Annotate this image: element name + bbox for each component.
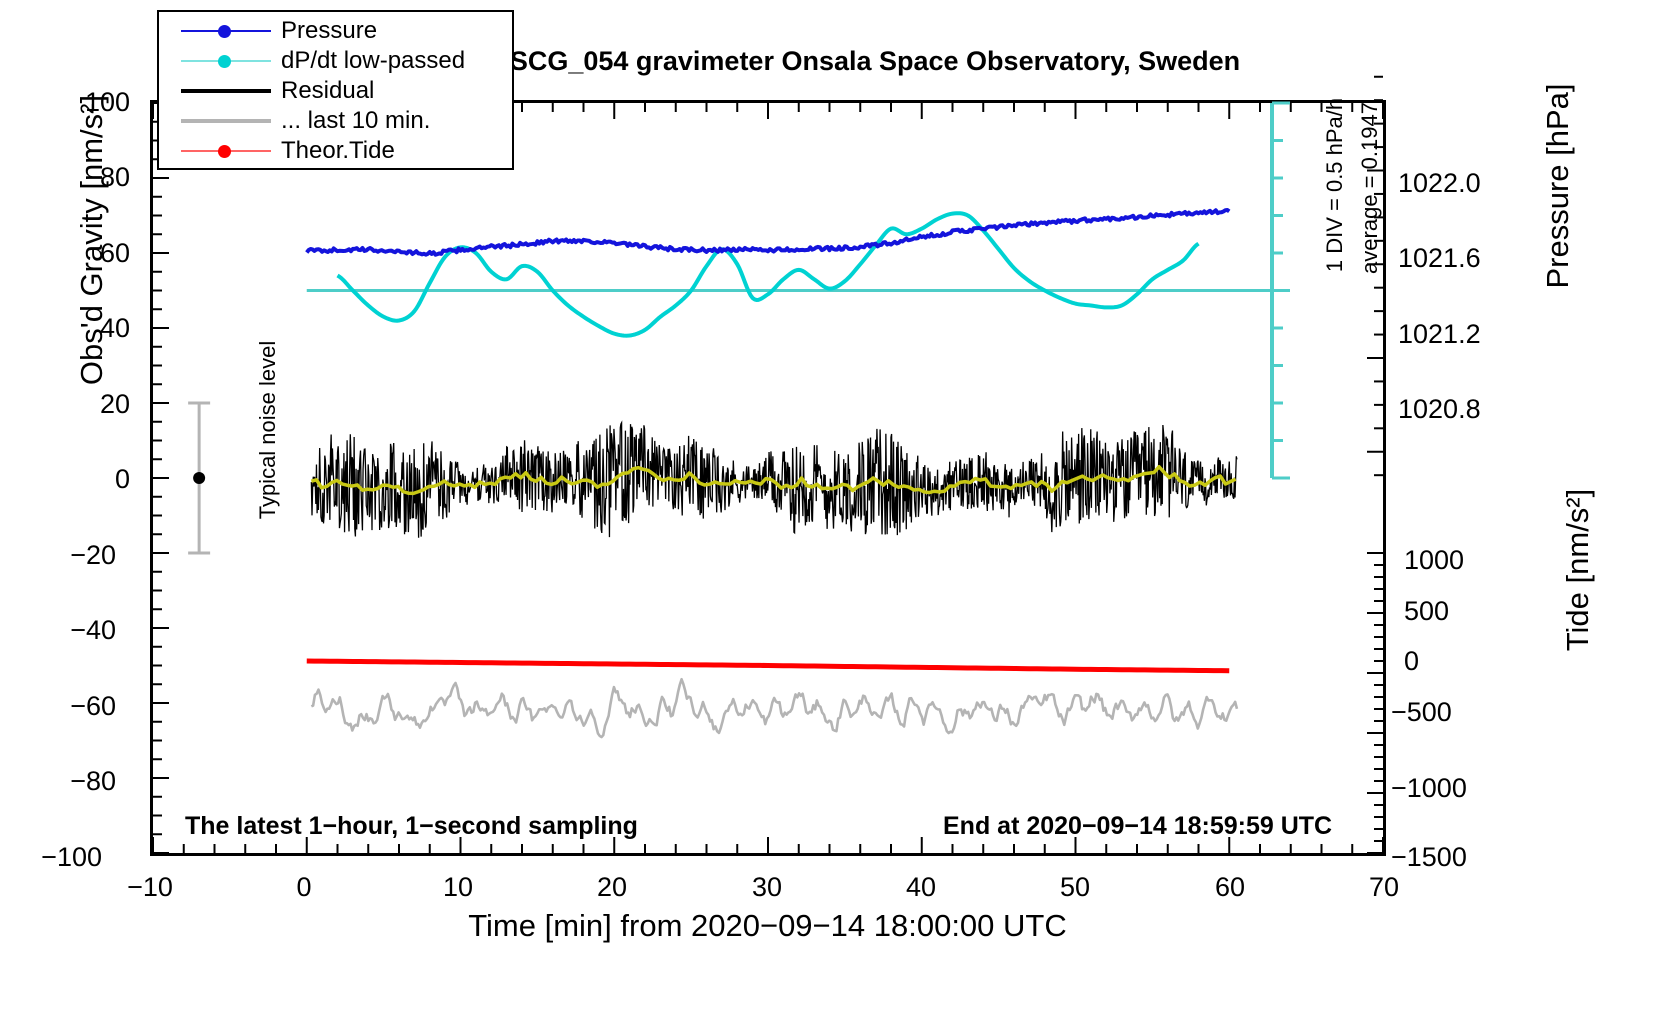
y-axis-right-ticks	[1367, 77, 1383, 853]
legend-item-pressure[interactable]: Pressure	[159, 16, 512, 46]
legend-item-tide[interactable]: Theor.Tide	[159, 136, 512, 166]
legend-label-dpdt: dP/dt low-passed	[281, 47, 465, 75]
series-pressure	[307, 210, 1230, 255]
legend-line-dot-red-icon	[181, 141, 271, 161]
legend-label-pressure: Pressure	[281, 17, 377, 45]
legend-box[interactable]: Pressure dP/dt low-passed Residual ... l…	[157, 10, 514, 170]
series-theoretical-tide	[307, 661, 1230, 671]
y-axis-left-ticks	[153, 103, 169, 853]
gravimeter-plot-page: SCG_054 gravimeter Onsala Space Observat…	[0, 0, 1660, 1020]
legend-label-last10: ... last 10 min.	[281, 107, 430, 135]
legend-item-residual[interactable]: Residual	[159, 76, 512, 106]
series-dpdt-lowpassed	[338, 213, 1199, 335]
legend-line-gray-icon	[181, 111, 271, 131]
legend-line-dot-blue-icon	[181, 21, 271, 41]
x-axis-ticks	[153, 837, 1383, 853]
legend-item-dpdt[interactable]: dP/dt low-passed	[159, 46, 512, 76]
legend-line-black-icon	[181, 81, 271, 101]
series-last-10-min	[311, 679, 1237, 737]
legend-item-last10[interactable]: ... last 10 min.	[159, 106, 512, 136]
legend-label-tide: Theor.Tide	[281, 137, 395, 165]
typical-noise-center-dot	[193, 472, 205, 484]
cyan-scale-bar	[1272, 103, 1290, 478]
legend-line-dot-cyan-icon	[181, 51, 271, 71]
legend-label-residual: Residual	[281, 77, 374, 105]
